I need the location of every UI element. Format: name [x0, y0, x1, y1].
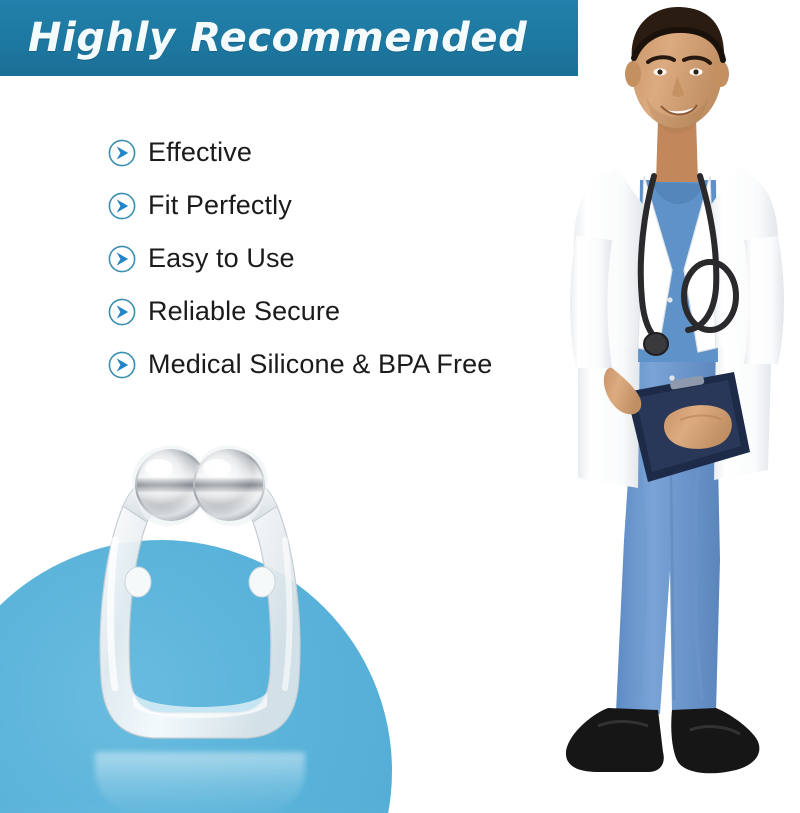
chevron-arrow-circle-icon — [108, 139, 136, 167]
page-title: Highly Recommended — [0, 15, 527, 61]
product-image-nose-clip — [75, 430, 325, 760]
feature-label: Effective — [148, 139, 252, 166]
chevron-arrow-circle-icon — [108, 351, 136, 379]
feature-label: Easy to Use — [148, 245, 295, 272]
feature-label: Reliable Secure — [148, 298, 340, 325]
list-item: Easy to Use — [108, 232, 538, 285]
feature-label: Medical Silicone & BPA Free — [148, 351, 492, 378]
chevron-arrow-circle-icon — [108, 298, 136, 326]
chevron-arrow-circle-icon — [108, 245, 136, 273]
list-item: Fit Perfectly — [108, 179, 538, 232]
headline-banner: Highly Recommended — [0, 0, 578, 76]
list-item: Effective — [108, 126, 538, 179]
list-item: Reliable Secure — [108, 285, 538, 338]
chevron-arrow-circle-icon — [108, 192, 136, 220]
doctor-photo — [520, 0, 800, 805]
list-item: Medical Silicone & BPA Free — [108, 338, 538, 391]
feature-label: Fit Perfectly — [148, 192, 292, 219]
feature-list: Effective Fit Perfectly Easy to Use — [108, 126, 538, 391]
product-feature-page: Highly Recommended Effective Fit Perfect… — [0, 0, 800, 813]
product-reflection — [95, 752, 305, 813]
